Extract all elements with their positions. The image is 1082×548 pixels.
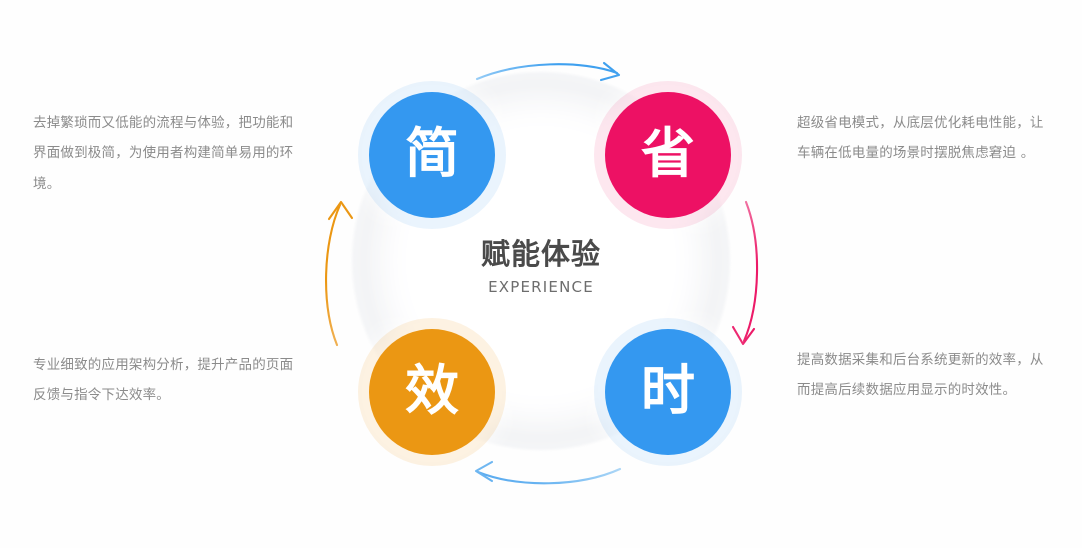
arrow-top-jian-to-sheng (477, 63, 619, 80)
node-circle-xiao[interactable]: 效 (369, 329, 495, 455)
description-sheng: 超级省电模式，从底层优化耗电性能，让车辆在低电量的场景时摆脱焦虑窘迫 。 (797, 108, 1055, 169)
center-label: 赋能体验 EXPERIENCE (391, 238, 691, 296)
arrow-bottom-shi-to-xiao (476, 462, 620, 483)
node-circle-sheng[interactable]: 省 (605, 92, 731, 218)
node-glyph-jian: 简 (405, 127, 459, 181)
infographic-canvas: 简 省 效 时 赋能体验 EXPERIENCE 去掉繁琐而又低能的流程与体验，把… (0, 0, 1082, 548)
center-title-en: EXPERIENCE (391, 278, 691, 296)
node-circle-jian[interactable]: 简 (369, 92, 495, 218)
arrow-right-sheng-to-shi (733, 202, 757, 344)
description-xiao: 专业细致的应用架构分析，提升产品的页面反馈与指令下达效率。 (33, 350, 295, 411)
node-glyph-shi: 时 (641, 364, 695, 418)
arrow-left-xiao-to-jian (326, 202, 352, 345)
description-jian: 去掉繁琐而又低能的流程与体验，把功能和界面做到极简，为使用者构建简单易用的环境。 (33, 108, 295, 199)
description-shi: 提高数据采集和后台系统更新的效率，从而提高后续数据应用显示的时效性。 (797, 345, 1055, 406)
node-glyph-xiao: 效 (405, 364, 459, 418)
node-glyph-sheng: 省 (641, 127, 695, 181)
center-title-cn: 赋能体验 (391, 238, 691, 271)
node-circle-shi[interactable]: 时 (605, 329, 731, 455)
